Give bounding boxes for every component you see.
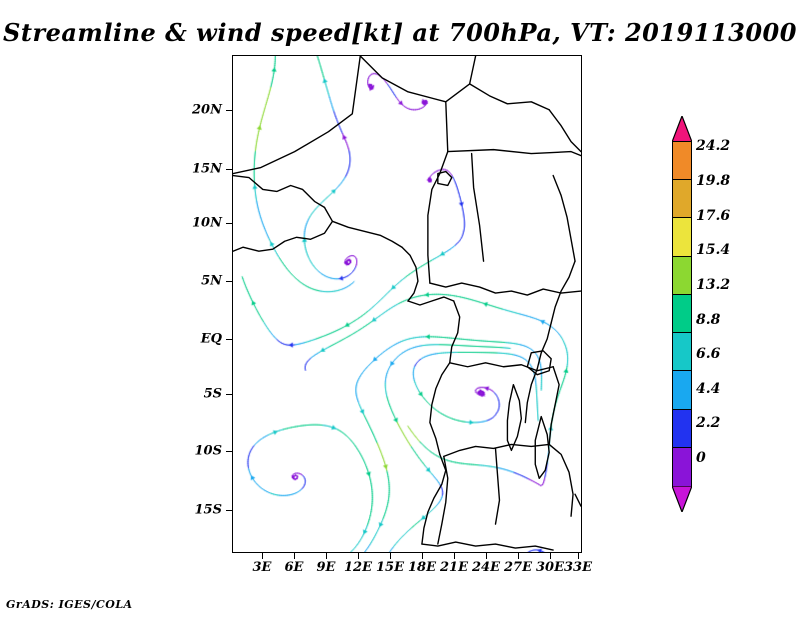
colorbar-segment [673, 410, 691, 448]
colorbar-segment [673, 218, 691, 256]
x-axis-tick-label: 3E [253, 560, 272, 575]
colorbar-tick-label: 4.4 [696, 381, 720, 397]
colorbar-segment [673, 448, 691, 486]
colorbar-segment [673, 333, 691, 371]
x-axis-tick-label: 24E [472, 560, 500, 575]
x-axis-tick-label: 9E [317, 560, 336, 575]
colorbar-segment [673, 180, 691, 218]
colorbar-arrow-down-icon [672, 486, 692, 512]
y-axis-tick-label: EQ [178, 332, 222, 347]
streamline-map-plot [232, 55, 582, 553]
x-axis-tick-mark [326, 553, 327, 559]
y-axis-tick-mark [226, 281, 232, 282]
colorbar-tick-label: 15.4 [696, 242, 730, 258]
y-axis-tick-mark [226, 169, 232, 170]
colorbar-tick-label: 0 [696, 450, 706, 466]
y-axis-tick-mark [226, 110, 232, 111]
y-axis-tick-label: 10N [178, 216, 222, 231]
colorbar-segment [673, 371, 691, 409]
x-axis-tick-label: 12E [344, 560, 372, 575]
colorbar-tick-label: 2.2 [696, 415, 720, 431]
y-axis-tick-mark [226, 510, 232, 511]
colorbar-tick-label: 24.2 [696, 138, 730, 154]
y-axis-tick-label: 15S [178, 503, 222, 518]
x-axis-tick-label: 18E [408, 560, 436, 575]
colorbar-tick-label: 8.8 [696, 312, 720, 328]
y-axis-tick-label: 20N [178, 103, 222, 118]
y-axis-tick-label: 5S [178, 387, 222, 402]
grads-credit: GrADS: IGES/COLA [6, 598, 133, 611]
x-axis-tick-label: 15E [376, 560, 404, 575]
x-axis-tick-mark [262, 553, 263, 559]
colorbar-tick-label: 17.6 [696, 208, 730, 224]
country-borders-overlay [233, 56, 581, 552]
y-axis-tick-label: 15N [178, 162, 222, 177]
colorbar-tick-label: 13.2 [696, 277, 730, 293]
y-axis-tick-mark [226, 223, 232, 224]
page-title: Streamline & wind speed[kt] at 700hPa, V… [0, 18, 800, 47]
colorbar-tick-label: 6.6 [696, 346, 720, 362]
x-axis-tick-label: 27E [504, 560, 532, 575]
y-axis-tick-label: 5N [178, 274, 222, 289]
x-axis-tick-mark [294, 553, 295, 559]
x-axis-tick-mark [390, 553, 391, 559]
y-axis-tick-label: 10S [178, 444, 222, 459]
x-axis-tick-mark [550, 553, 551, 559]
colorbar-tick-label: 19.8 [696, 173, 730, 189]
colorbar-segments [672, 141, 692, 487]
x-axis-tick-label: 30E [536, 560, 564, 575]
x-axis-tick-mark [422, 553, 423, 559]
x-axis-tick-label: 21E [440, 560, 468, 575]
colorbar-segment [673, 142, 691, 180]
y-axis-tick-mark [226, 339, 232, 340]
colorbar-arrow-up-icon [672, 116, 692, 142]
x-axis-tick-label: 33E [564, 560, 592, 575]
x-axis-tick-mark [358, 553, 359, 559]
colorbar-segment [673, 257, 691, 295]
x-axis-tick-mark [518, 553, 519, 559]
x-axis-tick-label: 6E [285, 560, 304, 575]
x-axis-tick-mark [486, 553, 487, 559]
y-axis-tick-mark [226, 394, 232, 395]
colorbar: 24.219.817.615.413.28.86.64.42.20 [672, 116, 692, 512]
x-axis-tick-mark [454, 553, 455, 559]
y-axis-tick-mark [226, 451, 232, 452]
x-axis-tick-mark [578, 553, 579, 559]
colorbar-segment [673, 295, 691, 333]
